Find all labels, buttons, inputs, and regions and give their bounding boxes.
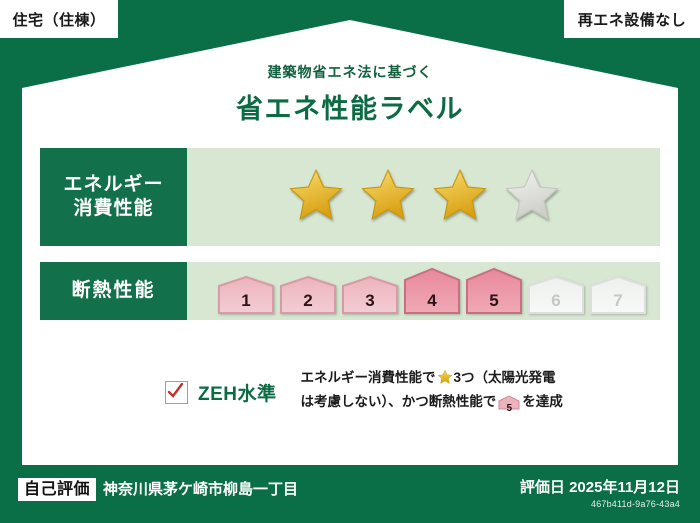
insulation-level-badge: 4 <box>403 267 461 315</box>
zeh-description-line1: エネルギー消費性能で3つ（太陽光発電 <box>301 368 563 392</box>
insulation-level-badge: 7 <box>589 275 647 315</box>
insulation-badge-inline: 5 <box>498 395 520 417</box>
evaluation-id: 467b411d-9a76-43a4 <box>520 499 680 509</box>
zeh-desc-text-c: は考慮しない）、かつ断熱性能で <box>301 394 497 409</box>
star-icon-filled <box>431 167 489 228</box>
insulation-level-scale: 1234567 <box>187 262 660 320</box>
insulation-level-badge: 1 <box>217 275 275 315</box>
insulation-level-badge: 6 <box>527 275 585 315</box>
renewable-energy-tag-label: 再エネ設備なし <box>578 9 687 30</box>
zeh-checkbox[interactable] <box>165 381 188 404</box>
insulation-level-number: 4 <box>403 291 461 311</box>
insulation-level-number: 5 <box>465 291 523 311</box>
zeh-standard-block: ZEH水準 エネルギー消費性能で3つ（太陽光発電 は考慮しない）、かつ断熱性能で… <box>165 368 563 417</box>
footer-right-group: 評価日 2025年11月12日 467b411d-9a76-43a4 <box>520 476 680 509</box>
star-icon-filled <box>359 167 417 228</box>
zeh-desc-text-b: 3つ（太陽光発電 <box>454 370 556 385</box>
zeh-desc-text-a: エネルギー消費性能で <box>301 370 436 385</box>
insulation-performance-row: 断熱性能 1234567 <box>40 262 660 320</box>
energy-performance-row: エネルギー 消費性能 <box>40 148 660 246</box>
zeh-description-line2: は考慮しない）、かつ断熱性能で5を達成 <box>301 392 563 417</box>
insulation-level-number: 7 <box>589 291 647 311</box>
check-icon <box>167 383 183 399</box>
insulation-level-number: 2 <box>279 291 337 311</box>
energy-label-line1: エネルギー <box>63 173 163 197</box>
insulation-performance-label-box: 断熱性能 <box>40 262 187 320</box>
property-address: 神奈川県茅ケ崎市柳島一丁目 <box>103 478 298 501</box>
star-icon-filled <box>287 167 345 228</box>
insulation-level-badge: 2 <box>279 275 337 315</box>
insulation-level-number: 1 <box>217 291 275 311</box>
insulation-level-number: 6 <box>527 291 585 311</box>
label-subtitle: 建築物省エネ法に基づく <box>0 62 700 82</box>
insulation-level-badge: 5 <box>465 267 523 315</box>
energy-label-line2: 消費性能 <box>73 197 153 221</box>
star-icon-empty <box>503 167 561 228</box>
zeh-description: エネルギー消費性能で3つ（太陽光発電 は考慮しない）、かつ断熱性能で5を達成 <box>301 368 563 417</box>
label-title: 省エネ性能ラベル <box>0 87 700 126</box>
label-footer: 自己評価 神奈川県茅ケ崎市柳島一丁目 評価日 2025年11月12日 467b4… <box>0 470 700 523</box>
zeh-standard-name: ZEH水準 <box>198 379 277 406</box>
building-type-tag: 住宅（住棟） <box>0 0 118 38</box>
insulation-level-number: 3 <box>341 291 399 311</box>
label-title-block: 建築物省エネ法に基づく 省エネ性能ラベル <box>0 62 700 126</box>
energy-star-rating <box>187 148 660 246</box>
energy-performance-label: 住宅（住棟） 再エネ設備なし 建築物省エネ法に基づく 省エネ性能ラベル エネルギ… <box>0 0 700 523</box>
renewable-energy-tag: 再エネ設備なし <box>564 0 700 38</box>
self-evaluation-badge: 自己評価 <box>18 478 96 501</box>
energy-performance-label-box: エネルギー 消費性能 <box>40 148 187 246</box>
insulation-badge-inline-number: 5 <box>498 401 520 417</box>
insulation-label: 断熱性能 <box>71 279 155 303</box>
insulation-level-badge: 3 <box>341 275 399 315</box>
evaluation-date: 評価日 2025年11月12日 <box>520 476 680 497</box>
star-icon-inline <box>437 373 453 388</box>
building-type-tag-label: 住宅（住棟） <box>12 9 105 30</box>
footer-left-group: 自己評価 神奈川県茅ケ崎市柳島一丁目 <box>18 478 298 501</box>
zeh-desc-text-d: を達成 <box>522 394 563 409</box>
